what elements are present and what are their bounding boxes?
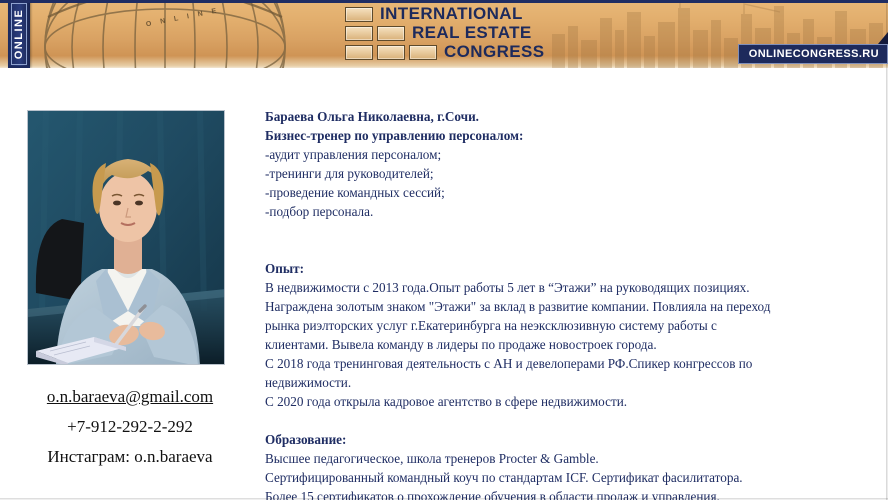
speaker-role: Бизнес-тренер по управлению персоналом: — [265, 126, 865, 145]
service-item: -тренинги для руководителей; — [265, 164, 865, 183]
experience-line: Награждена золотым знаком "Этажи" за вкл… — [265, 297, 865, 316]
website-url-label: ONLINECONGRESS.RU — [749, 48, 879, 60]
online-tab-foot — [8, 66, 30, 68]
speaker-name: Бараева Ольга Николаевна, г.Сочи. — [265, 107, 865, 126]
logo-line-1: INTERNATIONAL — [380, 6, 523, 22]
experience-line: С 2018 года тренинговая деятельность с А… — [265, 354, 865, 373]
education-section: Образование: Высшее педагогическое, школ… — [265, 430, 865, 500]
speaker-photo — [27, 110, 225, 365]
intro-section: Бараева Ольга Николаевна, г.Сочи. Бизнес… — [265, 107, 865, 221]
section-spacer — [265, 411, 865, 430]
service-item: -проведение командных сессий; — [265, 183, 865, 202]
logo-square-icon — [345, 26, 373, 41]
education-heading: Образование: — [265, 430, 865, 449]
speaker-portrait-illustration — [28, 111, 225, 365]
online-vertical-tab: ONLINE — [8, 0, 30, 68]
logo-square-icon — [377, 45, 405, 60]
experience-line: В недвижимости с 2013 года.Опыт работы 5… — [265, 278, 865, 297]
congress-logo: INTERNATIONAL REAL ESTATE CONGRESS — [345, 6, 545, 60]
logo-square-icon — [345, 7, 373, 22]
slide-header-banner: ONLINE — [0, 0, 888, 68]
experience-line: рынка риэлторских услуг г.Екатеринбурга … — [265, 316, 865, 335]
contact-phone: +7-912-292-2-292 — [10, 412, 250, 442]
experience-line: клиентами. Вывела команду в лидеры по пр… — [265, 335, 865, 354]
website-url-badge[interactable]: ONLINECONGRESS.RU — [738, 44, 888, 64]
logo-square-icon — [345, 45, 373, 60]
logo-square-icon — [409, 45, 437, 60]
logo-line-3: CONGRESS — [444, 44, 545, 60]
service-item: -аудит управления персоналом; — [265, 145, 865, 164]
section-spacer — [265, 240, 865, 259]
contact-email-link[interactable]: o.n.baraeva@gmail.com — [10, 382, 250, 412]
section-spacer — [265, 221, 865, 240]
contact-block: o.n.baraeva@gmail.com +7-912-292-2-292 И… — [10, 382, 250, 472]
header-top-rule — [0, 0, 888, 3]
experience-line: недвижимости. — [265, 373, 865, 392]
logo-row-3: CONGRESS — [345, 44, 545, 60]
ribbon-fold-decoration — [878, 32, 888, 44]
logo-row-2: REAL ESTATE — [345, 25, 545, 41]
experience-line: С 2020 года открыла кадровое агентство в… — [265, 392, 865, 411]
presentation-slide: ONLINE — [0, 0, 888, 500]
globe-wireframe-icon — [40, 0, 290, 68]
education-line: Сертифицированный командный коуч по стан… — [265, 468, 865, 487]
online-tab-label: ONLINE — [13, 9, 25, 60]
experience-heading: Опыт: — [265, 259, 865, 278]
experience-section: Опыт: В недвижимости с 2013 года.Опыт ра… — [265, 259, 865, 411]
logo-row-1: INTERNATIONAL — [345, 6, 545, 22]
speaker-bio-content: Бараева Ольга Николаевна, г.Сочи. Бизнес… — [265, 107, 865, 500]
service-item: -подбор персонала. — [265, 202, 865, 221]
contact-instagram: Инстаграм: o.n.baraeva — [10, 442, 250, 472]
logo-square-icon — [377, 26, 405, 41]
logo-line-2: REAL ESTATE — [412, 25, 532, 41]
education-line: Высшее педагогическое, школа тренеров Pr… — [265, 449, 865, 468]
